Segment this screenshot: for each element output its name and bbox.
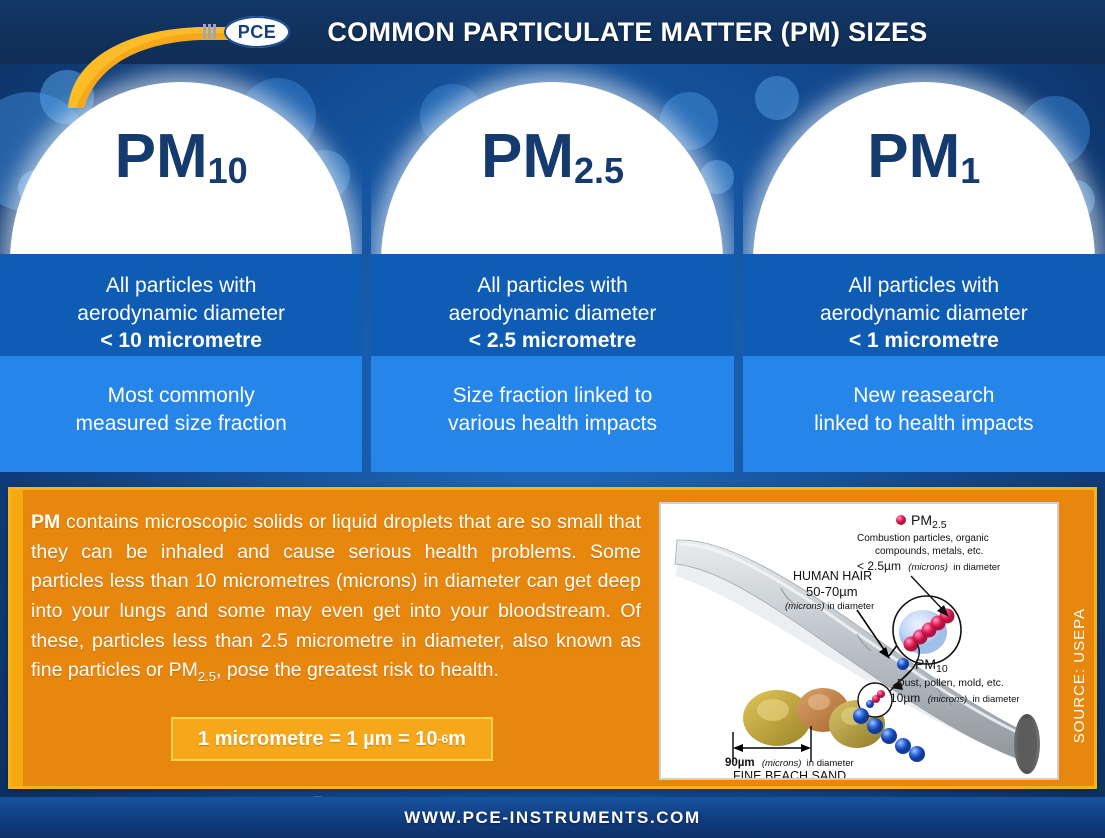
formula-text: 1 micrometre = 1 µm = 10 — [198, 728, 437, 751]
source-label: SOURCE: USEPA — [1071, 608, 1088, 743]
pm10-diagram-sub: 10 — [936, 663, 948, 675]
pm25-dome: PM2.5 — [371, 64, 733, 254]
sand-note-rest: in diameter — [807, 758, 854, 769]
pm-paragraph-lead: PM — [31, 511, 60, 533]
pm1-label: PM1 — [743, 126, 1105, 188]
pm10-note: Most commonly measured size fraction — [0, 356, 362, 472]
pm1-note-line1: New reasearch — [814, 382, 1033, 410]
pm25-note-italic: (microns) — [908, 562, 948, 573]
pm10-note-line1: Most commonly — [76, 382, 287, 410]
info-panel: PM contains microscopic solids or liquid… — [8, 487, 1097, 789]
pm25-label: PM2.5 — [371, 126, 733, 188]
pm25-diagram-sub: 2.5 — [932, 519, 947, 531]
micrometre-formula-box: 1 micrometre = 1 µm = 10-6 m — [171, 717, 493, 761]
pm25-desc1: Combustion particles, organic — [857, 533, 989, 544]
pm1-desc-line1: All particles with — [757, 272, 1091, 300]
pm25-note: Size fraction linked to various health i… — [371, 356, 733, 472]
page-title: COMMON PARTICULATE MATTER (PM) SIZES — [0, 0, 1105, 64]
pm1-note: New reasearch linked to health impacts — [743, 356, 1105, 472]
infographic-root: PCE COMMON PARTICULATE MATTER (PM) SIZES… — [0, 0, 1105, 838]
pm1-label-main: PM — [867, 122, 960, 191]
pm10-label-main: PM — [115, 122, 208, 191]
pm25-desc2: compounds, metals, etc. — [875, 546, 983, 557]
pm25-desc-line1: All particles with — [385, 272, 719, 300]
pm10-note-rest: in diameter — [973, 694, 1020, 705]
pm25-description: All particles with aerodynamic diameter … — [371, 254, 733, 356]
footer-bar[interactable]: WWW.PCE-INSTRUMENTS.COM — [0, 797, 1105, 838]
footer-url[interactable]: WWW.PCE-INSTRUMENTS.COM — [404, 808, 701, 828]
pm-paragraph-tail: , pose the greatest risk to health. — [216, 659, 499, 681]
hair-note-italic: (microns) — [785, 601, 825, 612]
pm25-diagram-main: PM — [911, 512, 932, 528]
pm1-note-line2: linked to health impacts — [814, 410, 1033, 438]
pm-paragraph-sub: 2.5 — [198, 669, 216, 684]
pm10-note-italic: (microns) — [928, 694, 968, 705]
pm-cards-row: PM10 All particles with aerodynamic diam… — [0, 64, 1105, 472]
pm10-desc-bold: < 10 micrometre — [100, 329, 262, 352]
pm25-size: < 2.5µm — [857, 559, 901, 573]
hair-size: 50-70µm — [806, 584, 858, 599]
formula-unit: m — [448, 728, 466, 751]
sand-note-italic: (microns) — [762, 758, 802, 769]
pm-card-pm10[interactable]: PM10 All particles with aerodynamic diam… — [0, 64, 362, 472]
pm-card-pm25[interactable]: PM2.5 All particles with aerodynamic dia… — [371, 64, 733, 472]
pm1-label-sub: 1 — [960, 150, 980, 191]
pm25-note-line2: various health impacts — [448, 410, 657, 438]
pm1-desc-bold: < 1 micrometre — [849, 329, 999, 352]
pm10-size-line: <10µm (microns) in diameter — [883, 691, 1020, 705]
pm10-desc1: Dust, pollen, mold, etc. — [897, 677, 1004, 689]
sand-size-label: 90µm (microns) in diameter — [725, 757, 854, 769]
pm1-dome: PM1 — [743, 64, 1105, 254]
pm25-note-rest: in diameter — [953, 562, 1000, 573]
pm10-dome: PM10 — [0, 64, 362, 254]
pm10-note-line2: measured size fraction — [76, 410, 287, 438]
pm25-desc-bold: < 2.5 micrometre — [469, 329, 637, 352]
pm25-desc-line2: aerodynamic diameter — [385, 300, 719, 328]
pm10-desc-line2: aerodynamic diameter — [14, 300, 348, 328]
pm-paragraph: PM contains microscopic solids or liquid… — [31, 508, 641, 687]
pm10-label-sub: 10 — [208, 150, 248, 191]
pm25-label-main: PM — [481, 122, 574, 191]
hair-note: (microns) in diameter — [785, 601, 874, 612]
sand-size: 90µm — [725, 757, 755, 769]
pm10-desc-line1: All particles with — [14, 272, 348, 300]
pm1-description: All particles with aerodynamic diameter … — [743, 254, 1105, 356]
pm1-desc-line2: aerodynamic diameter — [757, 300, 1091, 328]
pm25-label-sub: 2.5 — [574, 150, 624, 191]
epa-diagram: 90µm (microns) in diameter FINE BEACH SA… — [659, 502, 1059, 780]
hair-note-rest: in diameter — [825, 601, 875, 612]
pm25-note-line1: Size fraction linked to — [448, 382, 657, 410]
formula-exponent: -6 — [437, 732, 448, 746]
pm-paragraph-body: contains microscopic solids or liquid dr… — [31, 511, 641, 681]
pm10-description: All particles with aerodynamic diameter … — [0, 254, 362, 356]
pm-card-pm1[interactable]: PM1 All particles with aerodynamic diame… — [743, 64, 1105, 472]
pm25-size-line: < 2.5µm (microns) in diameter — [857, 559, 1000, 573]
pm10-label: PM10 — [0, 126, 362, 188]
sand-title: FINE BEACH SAND — [733, 769, 846, 778]
